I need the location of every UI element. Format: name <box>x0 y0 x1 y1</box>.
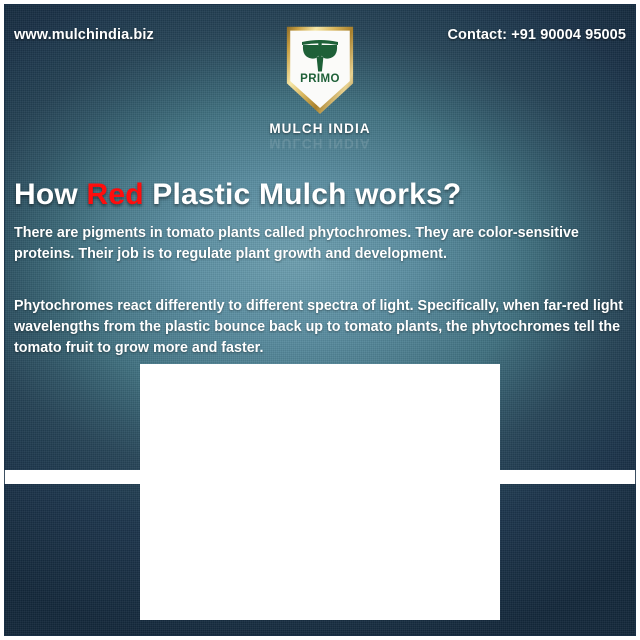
shield-emblem-group: PRIMO <box>284 35 356 86</box>
title-part-before: How <box>14 178 86 211</box>
soil-arrow-2 <box>307 534 325 570</box>
title-part-after: Plastic Mulch works? <box>144 178 462 211</box>
soil-arrow-4 <box>347 526 365 562</box>
brand-name-reflection: MULCH INDIA <box>269 137 370 149</box>
mulch-diagram-illustration <box>159 372 481 600</box>
emblem-wordmark: PRIMO <box>300 74 340 86</box>
soil-arrow-3 <box>327 530 345 566</box>
shield-icon: PRIMO <box>284 24 356 114</box>
poster-canvas: www.mulchindia.biz Contact: +91 90004 95… <box>0 0 640 640</box>
body-paragraph-1: There are pigments in tomato plants call… <box>14 223 626 265</box>
soil-arrow-1 <box>241 534 259 570</box>
plant-emblem-icon <box>297 35 343 75</box>
page-title: How Red Plastic Mulch works? <box>14 178 461 212</box>
sunlight-arrow-left <box>285 452 313 488</box>
reflected-far-red-arrow <box>316 490 355 527</box>
light-arrows-group <box>159 372 481 600</box>
body-paragraph-2: Phytochromes react differently to differ… <box>14 296 626 359</box>
title-highlight-red: Red <box>86 178 143 211</box>
sunlight-arrow-right <box>322 452 350 488</box>
brand-logo: PRIMO MULCH INDIA MULCH INDIA <box>0 24 640 149</box>
brand-name-text: MULCH INDIA <box>269 121 370 136</box>
